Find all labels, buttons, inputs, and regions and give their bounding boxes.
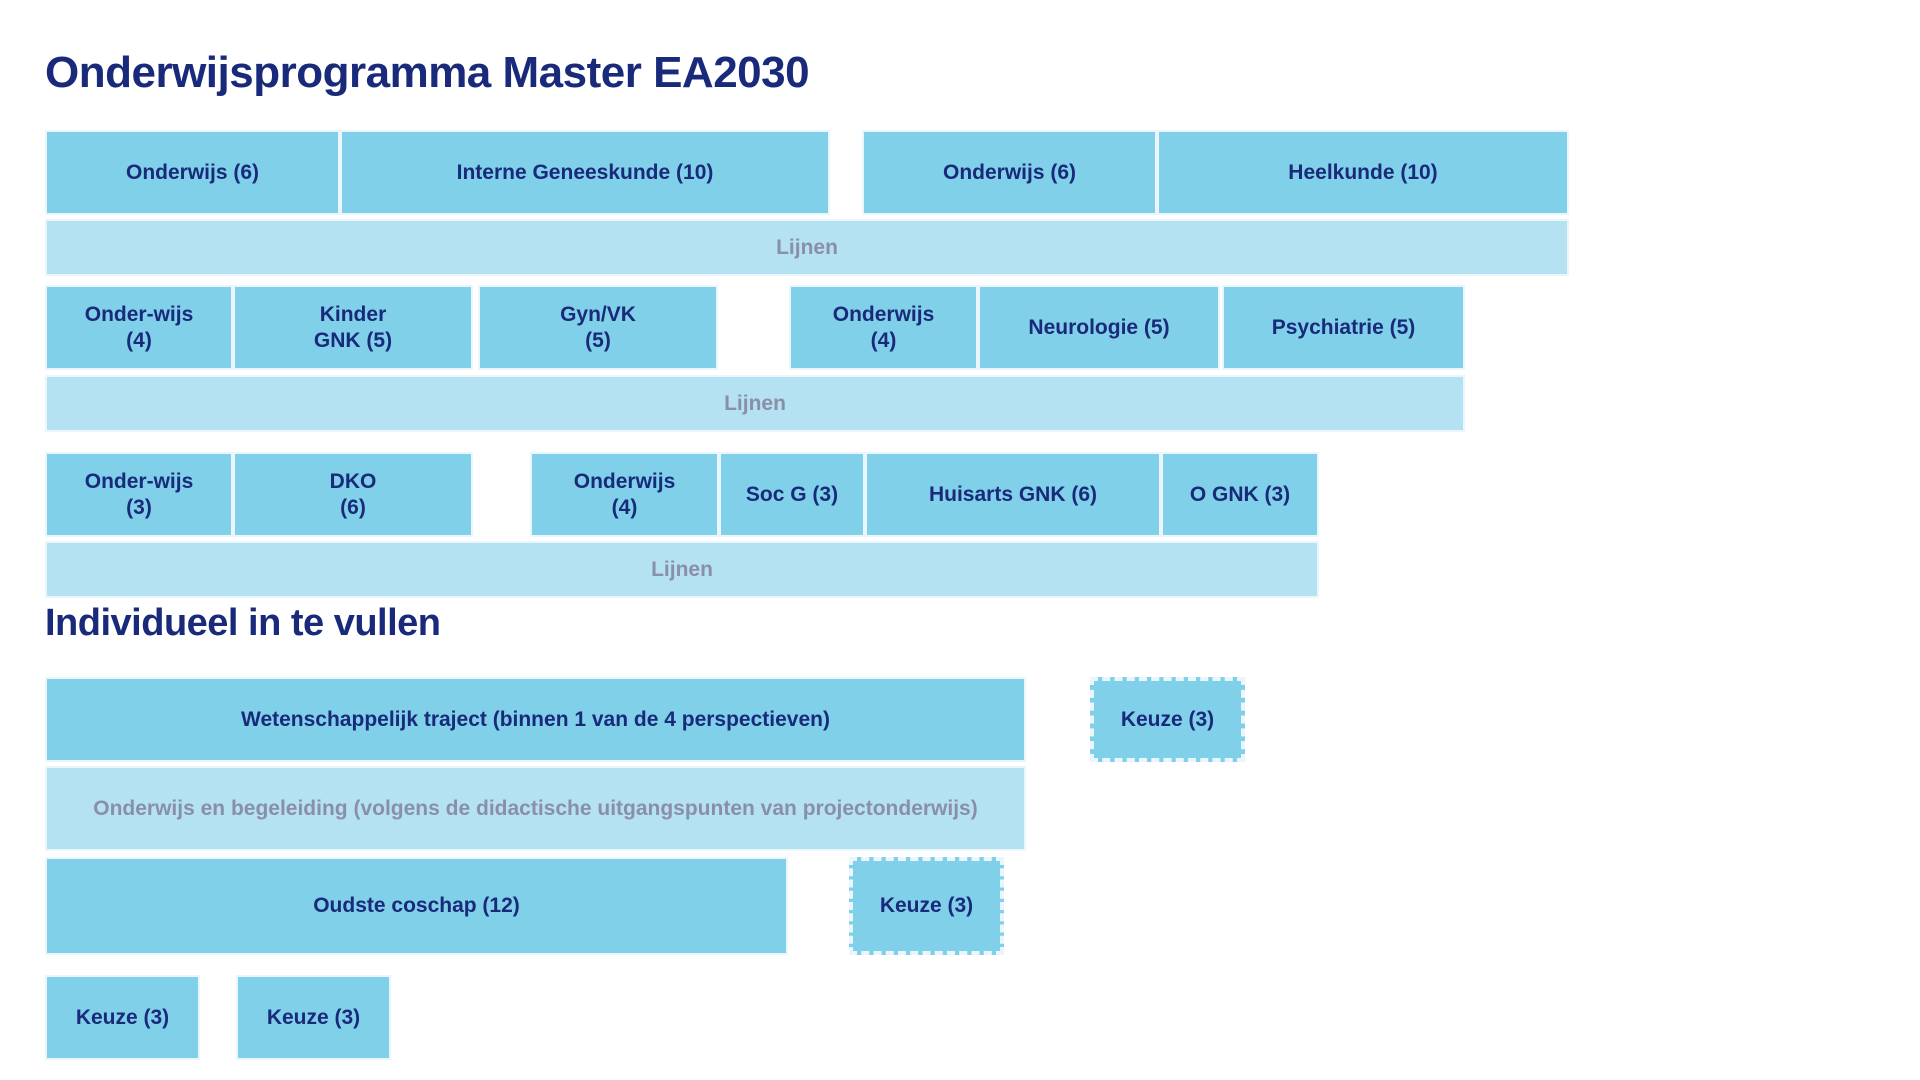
choice-block-label: Keuze (3) bbox=[267, 1005, 360, 1031]
course-block-label: DKO (6) bbox=[330, 469, 377, 520]
lijnen-band-label: Lijnen bbox=[651, 557, 713, 583]
block-label: Oudste coschap (12) bbox=[313, 893, 520, 919]
course-block-kinder-gnk[interactable]: Kinder GNK (5) bbox=[233, 285, 473, 370]
course-block-label: Huisarts GNK (6) bbox=[929, 482, 1097, 508]
band-label: Onderwijs en begeleiding (volgens de did… bbox=[93, 795, 977, 822]
course-block-o-gnk[interactable]: O GNK (3) bbox=[1161, 452, 1319, 537]
lijnen-band-row3[interactable]: Lijnen bbox=[45, 541, 1319, 598]
choice-block-keuze-bottom-1[interactable]: Keuze (3) bbox=[45, 975, 200, 1060]
course-block-gyn-vk[interactable]: Gyn/VK (5) bbox=[478, 285, 718, 370]
course-block-label: Gyn/VK (5) bbox=[560, 302, 636, 353]
page-title: Onderwijsprogramma Master EA2030 bbox=[45, 48, 809, 98]
course-block-heelkunde[interactable]: Heelkunde (10) bbox=[1157, 130, 1569, 215]
block-oudste-coschap[interactable]: Oudste coschap (12) bbox=[45, 857, 788, 955]
lijnen-band-label: Lijnen bbox=[724, 391, 786, 417]
course-block-onderwijs-6-a[interactable]: Onderwijs (6) bbox=[45, 130, 340, 215]
course-block-label: Onder-wijs (4) bbox=[85, 302, 194, 353]
course-block-onderwijs-6-b[interactable]: Onderwijs (6) bbox=[862, 130, 1157, 215]
course-block-soc-g[interactable]: Soc G (3) bbox=[719, 452, 865, 537]
block-wetenschappelijk-traject[interactable]: Wetenschappelijk traject (binnen 1 van d… bbox=[45, 677, 1026, 762]
course-block-huisarts-gnk[interactable]: Huisarts GNK (6) bbox=[865, 452, 1161, 537]
course-block-label: Onderwijs (4) bbox=[574, 469, 676, 520]
block-label: Wetenschappelijk traject (binnen 1 van d… bbox=[241, 707, 830, 733]
choice-block-keuze-top[interactable]: Keuze (3) bbox=[1090, 677, 1245, 762]
section-title-individueel: Individueel in te vullen bbox=[45, 602, 441, 645]
lijnen-band-row2[interactable]: Lijnen bbox=[45, 375, 1465, 432]
course-block-label: Heelkunde (10) bbox=[1288, 160, 1437, 186]
course-block-label: Neurologie (5) bbox=[1028, 315, 1169, 341]
course-block-dko[interactable]: DKO (6) bbox=[233, 452, 473, 537]
band-onderwijs-en-begeleiding[interactable]: Onderwijs en begeleiding (volgens de did… bbox=[45, 766, 1026, 851]
course-block-label: Interne Geneeskunde (10) bbox=[457, 160, 714, 186]
course-block-label: Onder-wijs (3) bbox=[85, 469, 194, 520]
choice-block-label: Keuze (3) bbox=[76, 1005, 169, 1031]
course-block-onderwijs-4-row3[interactable]: Onderwijs (4) bbox=[530, 452, 719, 537]
course-block-label: Soc G (3) bbox=[746, 482, 838, 508]
choice-block-label: Keuze (3) bbox=[880, 893, 973, 919]
program-diagram-canvas: Onderwijsprogramma Master EA2030 Onderwi… bbox=[0, 0, 1920, 1080]
lijnen-band-label: Lijnen bbox=[776, 235, 838, 261]
course-block-psychiatrie[interactable]: Psychiatrie (5) bbox=[1222, 285, 1465, 370]
course-block-neurologie[interactable]: Neurologie (5) bbox=[978, 285, 1220, 370]
choice-block-keuze-bottom-2[interactable]: Keuze (3) bbox=[236, 975, 391, 1060]
choice-block-keuze-mid[interactable]: Keuze (3) bbox=[849, 857, 1004, 955]
lijnen-band-row1[interactable]: Lijnen bbox=[45, 219, 1569, 276]
course-block-label: Psychiatrie (5) bbox=[1272, 315, 1416, 341]
course-block-label: Onderwijs (4) bbox=[833, 302, 935, 353]
course-block-label: Onderwijs (6) bbox=[126, 160, 259, 186]
course-block-label: Kinder GNK (5) bbox=[314, 302, 392, 353]
course-block-label: Onderwijs (6) bbox=[943, 160, 1076, 186]
course-block-onderwijs-4-row2[interactable]: Onder-wijs (4) bbox=[45, 285, 233, 370]
course-block-onderwijs-4-row2-b[interactable]: Onderwijs (4) bbox=[789, 285, 978, 370]
choice-block-label: Keuze (3) bbox=[1121, 707, 1214, 733]
course-block-interne-geneeskunde[interactable]: Interne Geneeskunde (10) bbox=[340, 130, 830, 215]
course-block-label: O GNK (3) bbox=[1190, 482, 1290, 508]
course-block-onderwijs-3-row3[interactable]: Onder-wijs (3) bbox=[45, 452, 233, 537]
